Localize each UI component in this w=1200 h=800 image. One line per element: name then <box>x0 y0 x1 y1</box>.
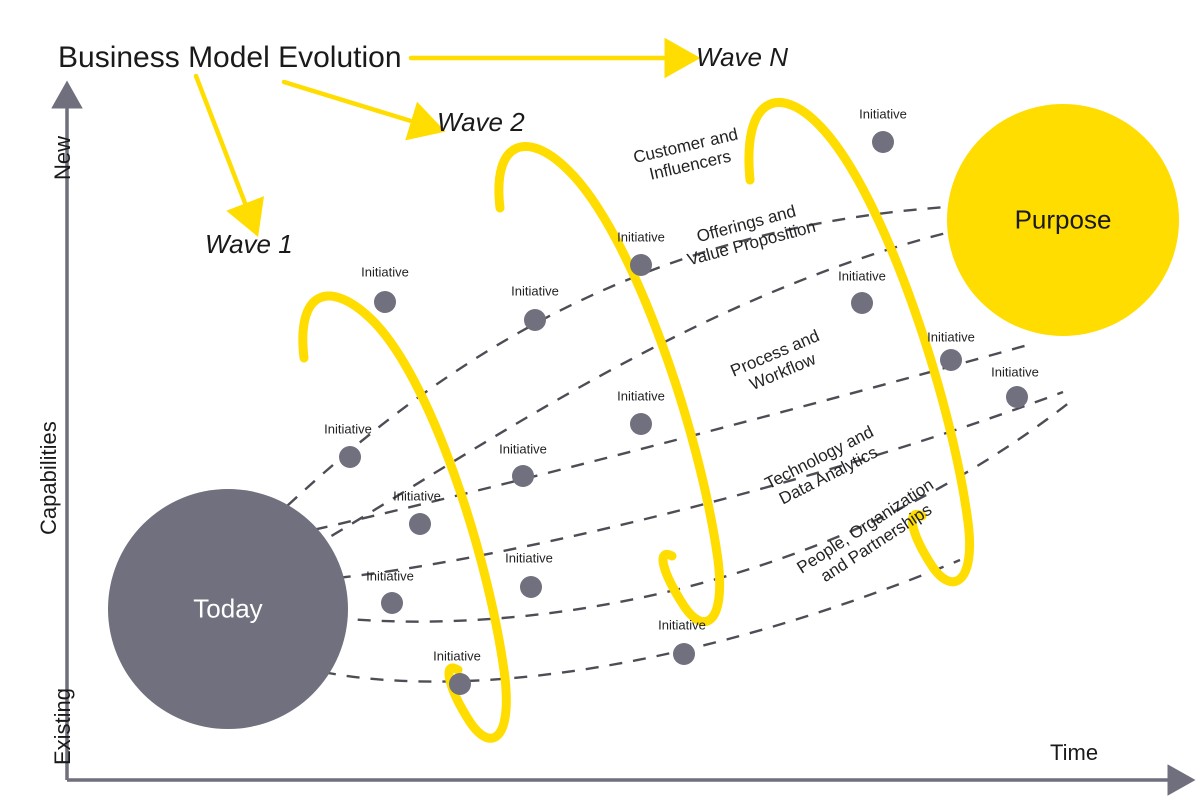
initiative-label: Initiative <box>658 618 706 633</box>
initiative-dot[interactable] <box>940 349 962 371</box>
page-title: Business Model Evolution <box>58 41 402 75</box>
stream-curve-bottom <box>323 560 960 682</box>
initiative-dot[interactable] <box>409 513 431 535</box>
arrow-title-to-wave-1 <box>196 76 250 216</box>
initiative-dot[interactable] <box>339 446 361 468</box>
initiative-dot[interactable] <box>520 576 542 598</box>
initiative-label: Initiative <box>838 269 886 284</box>
initiative-label: Initiative <box>859 107 907 122</box>
initiative-dot[interactable] <box>374 291 396 313</box>
initiative-dot[interactable] <box>1006 386 1028 408</box>
wave-1-loop[interactable] <box>303 296 507 738</box>
initiative-dot[interactable] <box>851 292 873 314</box>
initiative-dot[interactable] <box>381 592 403 614</box>
initiative-label: Initiative <box>511 284 559 299</box>
initiative-dot[interactable] <box>512 465 534 487</box>
initiative-label: Initiative <box>393 489 441 504</box>
initiative-dot[interactable] <box>449 673 471 695</box>
y-axis-label-existing: Existing <box>50 688 76 765</box>
initiative-label: Initiative <box>617 230 665 245</box>
wave-label-2: Wave 2 <box>437 107 525 138</box>
initiative-label: Initiative <box>617 389 665 404</box>
initiative-label: Initiative <box>499 442 547 457</box>
initiative-dot[interactable] <box>872 131 894 153</box>
initiative-dot[interactable] <box>524 309 546 331</box>
x-axis-label-time: Time <box>1050 740 1098 766</box>
initiative-dot[interactable] <box>630 413 652 435</box>
initiative-dot[interactable] <box>673 643 695 665</box>
arrow-title-to-wave-2 <box>284 82 424 125</box>
initiative-label: Initiative <box>505 551 553 566</box>
y-axis-label-new: New <box>50 136 76 180</box>
initiative-label: Initiative <box>927 330 975 345</box>
diagram-svg <box>0 0 1200 800</box>
diagram-canvas: Business Model Evolution Wave 1 Wave 2 W… <box>0 0 1200 800</box>
initiative-label: Initiative <box>361 265 409 280</box>
wave-label-n: Wave N <box>696 42 788 73</box>
bubble-label-purpose: Purpose <box>1015 205 1112 236</box>
initiative-dot[interactable] <box>630 254 652 276</box>
initiative-label: Initiative <box>991 365 1039 380</box>
initiative-label: Initiative <box>433 649 481 664</box>
initiative-label: Initiative <box>324 422 372 437</box>
y-axis-label-capabilities: Capabilities <box>36 421 62 535</box>
bubble-label-today: Today <box>193 594 262 625</box>
wave-label-1: Wave 1 <box>205 229 293 260</box>
initiative-label: Initiative <box>366 569 414 584</box>
